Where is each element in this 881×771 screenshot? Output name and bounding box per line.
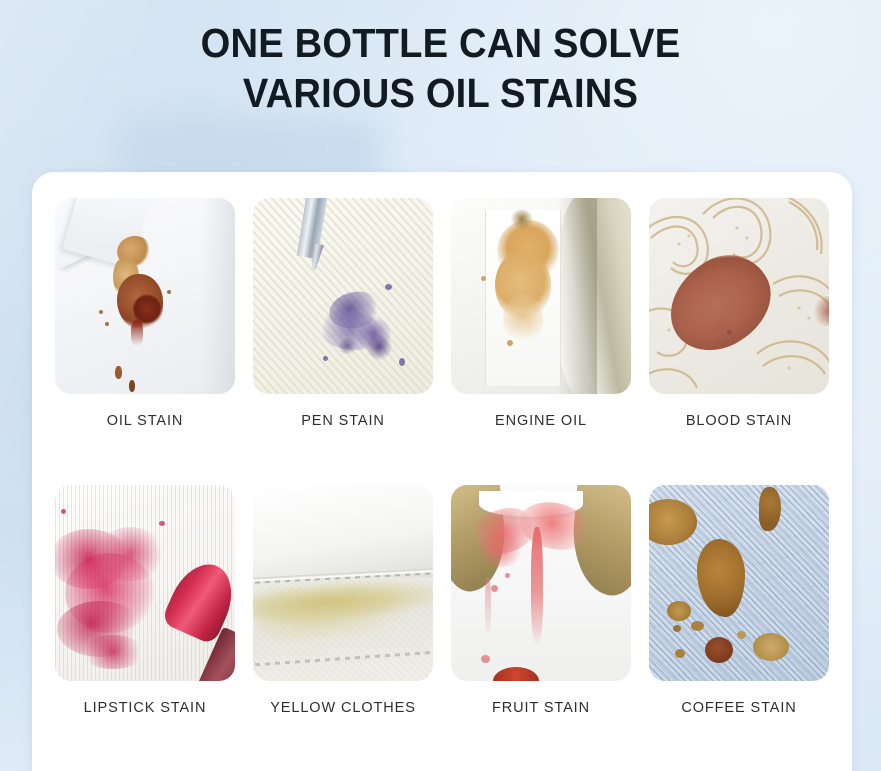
coffee-splat-2 xyxy=(697,539,745,617)
stain-label-engine-oil: ENGINE OIL xyxy=(451,413,631,429)
stain-item-fruit-stain[interactable]: FRUIT STAIN xyxy=(451,485,631,716)
stain-label-blood-stain: BLOOD STAIN xyxy=(649,413,829,429)
stain-photo-pen-stain xyxy=(253,198,433,394)
ink-speck-1 xyxy=(385,284,392,290)
fold-shadow xyxy=(557,198,597,394)
stain-photo-fruit-stain xyxy=(451,485,631,681)
lipstick-smear-5 xyxy=(81,635,145,669)
stain-photo-yellow-clothes xyxy=(253,485,433,681)
fruit-splash-3 xyxy=(475,531,525,567)
page-title-line-2: VARIOUS OIL STAINS xyxy=(31,68,850,118)
shirt-fold-shadow xyxy=(201,198,235,394)
fruit-speck-2 xyxy=(505,573,510,578)
engine-oil-speck-1 xyxy=(481,276,486,281)
stain-label-lipstick-stain: LIPSTICK STAIN xyxy=(55,700,235,716)
stain-item-lipstick-stain[interactable]: LIPSTICK STAIN xyxy=(55,485,235,716)
coffee-splat-5 xyxy=(667,601,691,621)
fruit-speck-3 xyxy=(481,655,490,663)
lower-stitching xyxy=(253,650,433,667)
oil-speck-4 xyxy=(167,290,171,294)
stain-grid: OIL STAIN PEN STAIN xyxy=(32,172,852,771)
engine-oil-blot-3 xyxy=(503,294,543,346)
page-title-line-1: ONE BOTTLE CAN SOLVE xyxy=(31,18,850,68)
ink-speck-2 xyxy=(399,358,405,366)
lipstick-speck-3 xyxy=(61,509,66,514)
oil-speck-5 xyxy=(105,322,109,326)
ink-splatter-5 xyxy=(337,338,357,354)
stain-label-fruit-stain: FRUIT STAIN xyxy=(451,700,631,716)
oil-speck-3 xyxy=(99,310,103,314)
stain-item-pen-stain[interactable]: PEN STAIN xyxy=(253,198,433,429)
ink-speck-3 xyxy=(323,356,328,361)
stain-photo-engine-oil xyxy=(451,198,631,394)
coffee-splat-1 xyxy=(649,499,697,545)
stain-photo-oil-stain xyxy=(55,198,235,394)
stain-gallery-card: OIL STAIN PEN STAIN xyxy=(32,172,852,771)
engine-oil-speck-2 xyxy=(507,340,513,346)
garment-upper-panel xyxy=(253,485,433,577)
coffee-speck-1 xyxy=(691,621,704,631)
stain-label-yellow-clothes: YELLOW CLOTHES xyxy=(253,700,433,716)
oil-speck-1 xyxy=(115,366,122,379)
ink-splatter-4 xyxy=(365,334,393,360)
coffee-speck-4 xyxy=(737,631,746,639)
stain-photo-coffee-stain xyxy=(649,485,829,681)
stain-item-yellow-clothes[interactable]: YELLOW CLOTHES xyxy=(253,485,433,716)
stain-label-coffee-stain: COFFEE STAIN xyxy=(649,700,829,716)
coffee-splat-6 xyxy=(705,637,733,663)
page-title: ONE BOTTLE CAN SOLVE VARIOUS OIL STAINS xyxy=(31,18,850,118)
engine-oil-dark-core xyxy=(509,210,535,228)
oil-speck-2 xyxy=(129,380,135,392)
blood-speck-1 xyxy=(727,330,732,335)
stain-photo-lipstick-stain xyxy=(55,485,235,681)
stain-item-blood-stain[interactable]: BLOOD STAIN xyxy=(649,198,829,429)
coffee-splat-7 xyxy=(753,633,789,661)
coffee-splat-4 xyxy=(759,487,781,531)
coffee-speck-3 xyxy=(675,649,685,658)
lipstick-speck-1 xyxy=(159,521,165,526)
stain-item-oil-stain[interactable]: OIL STAIN xyxy=(55,198,235,429)
stain-photo-blood-stain xyxy=(649,198,829,394)
stain-item-engine-oil[interactable]: ENGINE OIL xyxy=(451,198,631,429)
coffee-speck-2 xyxy=(673,625,681,632)
stain-item-coffee-stain[interactable]: COFFEE STAIN xyxy=(649,485,829,716)
fruit-piece xyxy=(493,667,539,681)
fruit-drip-side xyxy=(485,577,491,639)
stain-label-oil-stain: OIL STAIN xyxy=(55,413,235,429)
stain-label-pen-stain: PEN STAIN xyxy=(253,413,433,429)
oil-drip xyxy=(131,320,143,346)
promo-page: ONE BOTTLE CAN SOLVE VARIOUS OIL STAINS xyxy=(0,0,881,771)
lipstick-smear-3 xyxy=(95,527,165,581)
fruit-speck-1 xyxy=(491,585,498,592)
fruit-drip-main xyxy=(531,527,543,645)
